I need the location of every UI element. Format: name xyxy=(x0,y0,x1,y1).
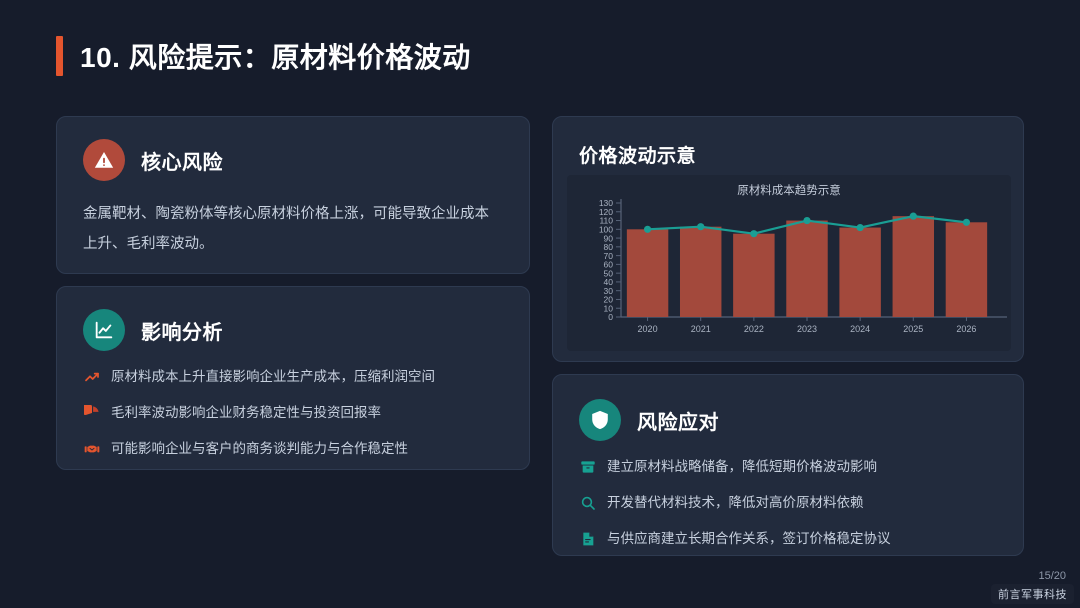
core-risk-card: 核心风险 金属靶材、陶瓷粉体等核心原材料价格上涨，可能导致企业成本上升、毛利率波… xyxy=(56,116,530,274)
archive-box-icon xyxy=(579,458,596,475)
svg-text:2025: 2025 xyxy=(903,324,923,334)
list-item: 毛利率波动影响企业财务稳定性与投资回报率 xyxy=(83,403,529,422)
svg-text:40: 40 xyxy=(604,277,614,287)
svg-text:30: 30 xyxy=(604,286,614,296)
svg-text:60: 60 xyxy=(604,260,614,270)
risk-response-title: 风险应对 xyxy=(637,406,719,435)
page-number: 15/20 xyxy=(1038,570,1066,582)
list-item: 原材料成本上升直接影响企业生产成本，压缩利润空间 xyxy=(83,367,529,386)
list-item-label: 可能影响企业与客户的商务谈判能力与合作稳定性 xyxy=(111,439,408,458)
handshake-icon xyxy=(83,440,100,457)
page-title: 10. 风险提示：原材料价格波动 xyxy=(56,34,471,78)
watermark-badge: 前言军事科技 xyxy=(991,584,1074,604)
svg-text:0: 0 xyxy=(608,312,613,322)
chart-plot: 0102030405060708090100110120130202020212… xyxy=(567,175,1011,351)
svg-text:10: 10 xyxy=(604,303,614,313)
pie-chart-icon xyxy=(83,404,100,421)
document-icon xyxy=(579,530,596,547)
chart-area: 原材料成本趋势示意 010203040506070809010011012013… xyxy=(567,175,1011,351)
svg-text:110: 110 xyxy=(599,216,613,226)
svg-text:2021: 2021 xyxy=(691,324,711,334)
search-icon xyxy=(579,494,596,511)
core-risk-header: 核心风险 xyxy=(83,139,529,181)
svg-text:2020: 2020 xyxy=(638,324,658,334)
title-text: 10. 风险提示：原材料价格波动 xyxy=(80,36,471,76)
line-chart-icon xyxy=(83,309,125,351)
svg-text:100: 100 xyxy=(599,225,613,235)
shield-icon xyxy=(579,399,621,441)
list-item: 建立原材料战略储备，降低短期价格波动影响 xyxy=(579,457,1023,476)
svg-text:130: 130 xyxy=(599,198,613,208)
svg-text:50: 50 xyxy=(604,268,614,278)
svg-text:2024: 2024 xyxy=(850,324,870,334)
svg-text:90: 90 xyxy=(604,233,614,243)
svg-text:80: 80 xyxy=(604,242,614,252)
risk-response-card: 风险应对 建立原材料战略储备，降低短期价格波动影响 xyxy=(552,374,1024,556)
svg-text:2026: 2026 xyxy=(956,324,976,334)
warning-triangle-icon xyxy=(83,139,125,181)
list-item: 与供应商建立长期合作关系，签订价格稳定协议 xyxy=(579,529,1023,548)
price-chart-card: 价格波动示意 原材料成本趋势示意 01020304050607080901001… xyxy=(552,116,1024,362)
list-item-label: 建立原材料战略储备，降低短期价格波动影响 xyxy=(607,457,877,476)
impact-bullet-list: 原材料成本上升直接影响企业生产成本，压缩利润空间 毛利率波动影响企业财务稳定性与… xyxy=(83,367,529,458)
svg-text:120: 120 xyxy=(599,207,613,217)
price-chart-card-title: 价格波动示意 xyxy=(579,141,696,168)
list-item-label: 毛利率波动影响企业财务稳定性与投资回报率 xyxy=(111,403,381,422)
svg-text:2023: 2023 xyxy=(797,324,817,334)
list-item-label: 与供应商建立长期合作关系，签订价格稳定协议 xyxy=(607,529,891,548)
risk-response-bullet-list: 建立原材料战略储备，降低短期价格波动影响 开发替代材料技术，降低对高价原材料依赖 xyxy=(579,457,1023,548)
list-item: 可能影响企业与客户的商务谈判能力与合作稳定性 xyxy=(83,439,529,458)
svg-text:20: 20 xyxy=(604,295,614,305)
list-item-label: 原材料成本上升直接影响企业生产成本，压缩利润空间 xyxy=(111,367,435,386)
slide-root: 10. 风险提示：原材料价格波动 核心风险 金属靶材、陶瓷粉体等核心原材料价格上… xyxy=(0,0,1080,608)
title-accent-bar xyxy=(56,36,63,76)
svg-text:2022: 2022 xyxy=(744,324,764,334)
trending-up-icon xyxy=(83,368,100,385)
list-item-label: 开发替代材料技术，降低对高价原材料依赖 xyxy=(607,493,864,512)
impact-analysis-header: 影响分析 xyxy=(83,309,529,351)
core-risk-title: 核心风险 xyxy=(141,146,223,175)
core-risk-body: 金属靶材、陶瓷粉体等核心原材料价格上涨，可能导致企业成本上升、毛利率波动。 xyxy=(83,199,503,259)
impact-analysis-title: 影响分析 xyxy=(141,316,223,345)
impact-analysis-card: 影响分析 原材料成本上升直接影响企业生产成本，压缩利润空间 xyxy=(56,286,530,470)
risk-response-header: 风险应对 xyxy=(579,399,1023,441)
svg-text:70: 70 xyxy=(604,251,614,261)
list-item: 开发替代材料技术，降低对高价原材料依赖 xyxy=(579,493,1023,512)
